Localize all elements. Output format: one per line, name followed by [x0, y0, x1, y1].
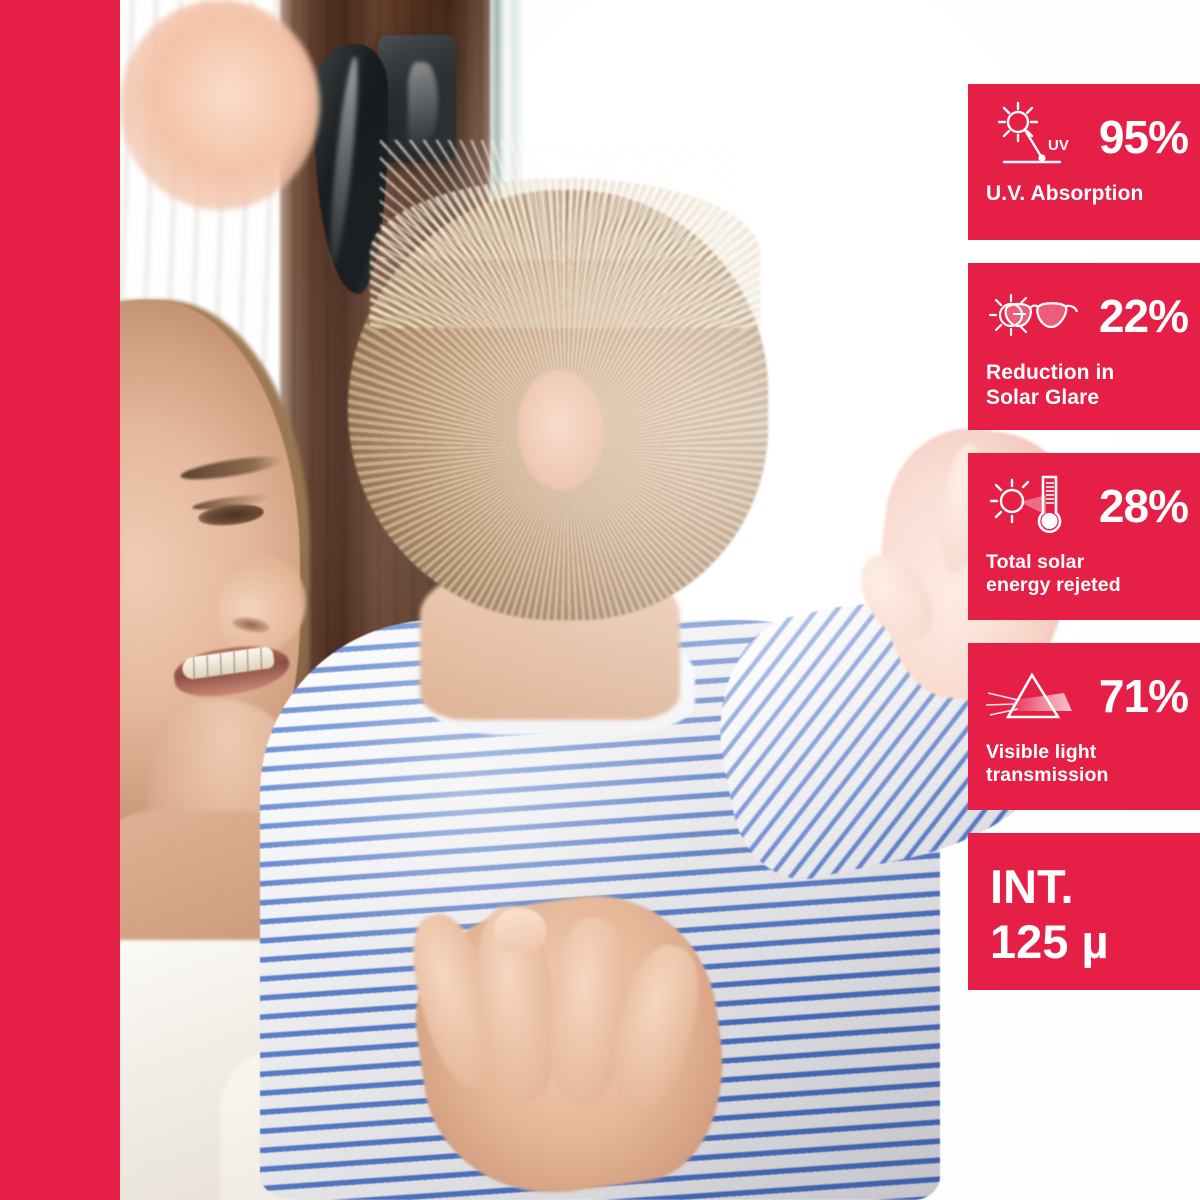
- spec-card-label-line-1: Reduction in: [986, 361, 1188, 385]
- sun-sunglasses-icon: [986, 279, 1082, 353]
- spec-card-solar-glare[interactable]: 22% Reduction in Solar Glare: [968, 263, 1200, 430]
- product-name-bar: MAT WHITE SECURITY: [0, 0, 120, 1200]
- sun-uv-absorption-icon: UV: [986, 100, 1082, 174]
- spec-card-header: 28%: [986, 469, 1188, 543]
- spec-card-solar-energy[interactable]: 28% Total solar energy rejeted: [968, 453, 1200, 620]
- spec-card-header: 22%: [986, 279, 1188, 353]
- spec-card-label-line-2: Solar Glare: [986, 386, 1188, 410]
- spec-card-header: 71%: [986, 659, 1188, 733]
- uv-icon-text: UV: [1048, 137, 1069, 154]
- spec-card-percent: 28%: [1099, 483, 1188, 529]
- spec-card-percent: 22%: [1099, 293, 1188, 339]
- spec-card-visible-light[interactable]: 71% Visible light transmission: [968, 643, 1200, 810]
- spec-card-percent: 95%: [1099, 114, 1188, 160]
- prism-light-icon: [986, 659, 1082, 733]
- spec-cards-panel: UV 95% U.V. Absorption: [968, 0, 1200, 1200]
- mother-fingernail: [494, 908, 546, 952]
- thickness-label: INT.: [990, 859, 1188, 914]
- spec-card-percent: 71%: [1099, 673, 1188, 719]
- spec-card-label-line-1: Total solar: [986, 551, 1188, 573]
- spec-card-label-line-2: transmission: [986, 764, 1188, 786]
- spec-card-uv-absorption[interactable]: UV 95% U.V. Absorption: [968, 84, 1200, 240]
- spec-card-label-line-1: Visible light: [986, 741, 1188, 763]
- sun-thermometer-icon: [986, 469, 1082, 543]
- spec-card-label: U.V. Absorption: [986, 182, 1188, 206]
- baby-hair-wisps: [380, 140, 740, 260]
- thickness-value: 125 µ: [990, 914, 1188, 969]
- baby-cheek: [120, 0, 320, 210]
- spec-card-label-line-2: energy rejeted: [986, 574, 1188, 596]
- baby-ear: [518, 370, 604, 490]
- spec-card-thickness[interactable]: INT. 125 µ: [968, 833, 1200, 990]
- spec-card-header: UV 95%: [986, 100, 1188, 174]
